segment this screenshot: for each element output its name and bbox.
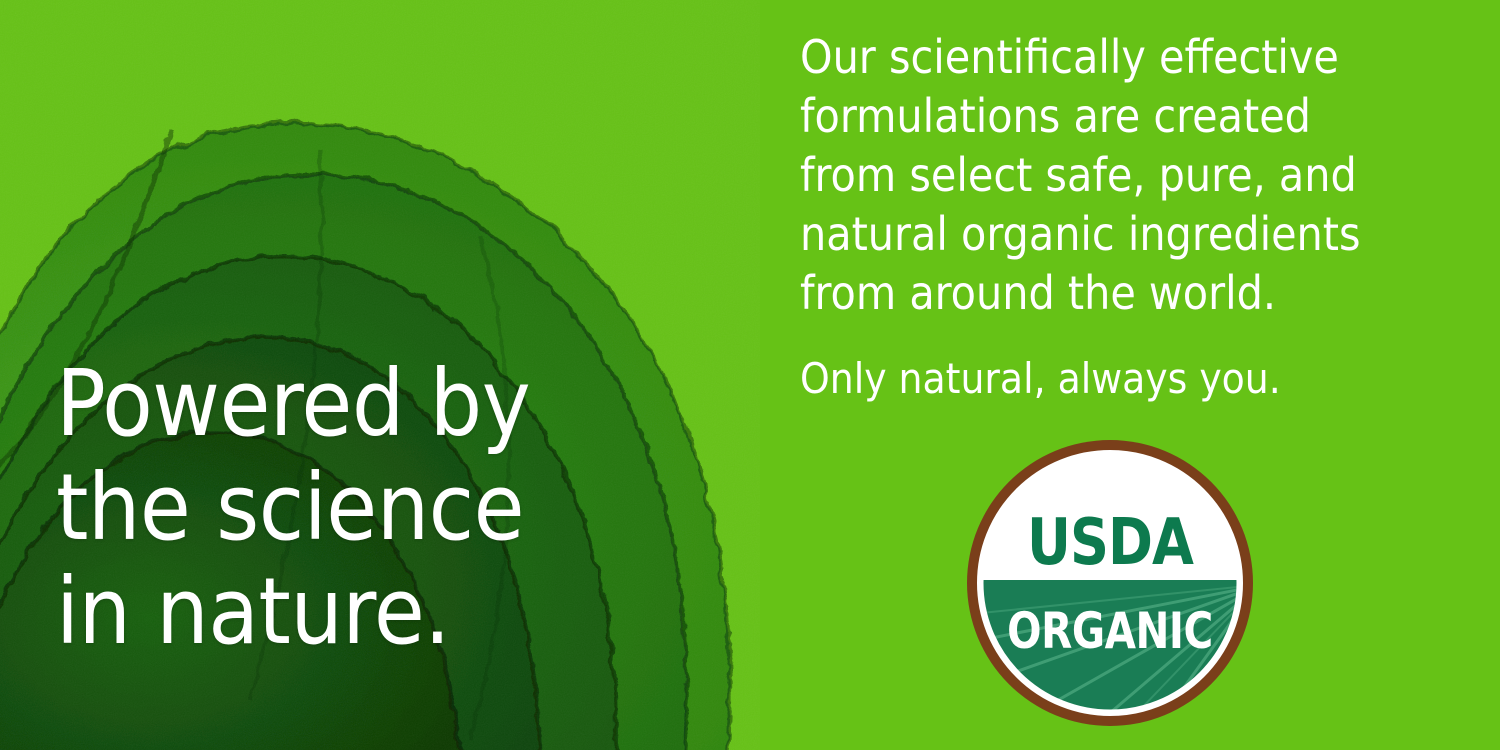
- tagline: Only natural, always you.: [800, 354, 1420, 404]
- page-title: Powered by the science in nature.: [56, 352, 716, 664]
- description-paragraph: Our scientifically effective formulation…: [800, 28, 1420, 323]
- paragraph-line-3: from select safe, pure, and: [800, 146, 1420, 205]
- copy-column: Our scientifically effective formulation…: [800, 28, 1420, 404]
- usda-organic-seal: USDA ORGANIC: [963, 436, 1257, 730]
- paragraph-line-4: natural organic ingredients: [800, 205, 1420, 264]
- organic-brand-banner: Powered by the science in nature. Our sc…: [0, 0, 1500, 750]
- headline-line-2: the science: [56, 456, 716, 560]
- paragraph-line-1: Our scientifically effective: [800, 28, 1420, 87]
- seal-organic-text: ORGANIC: [1007, 603, 1213, 661]
- seal-usda-text: USDA: [1027, 504, 1194, 579]
- paragraph-line-5: from around the world.: [800, 264, 1420, 323]
- headline-line-1: Powered by: [56, 352, 716, 456]
- headline-line-3: in nature.: [56, 560, 716, 664]
- paragraph-line-2: formulations are created: [800, 87, 1420, 146]
